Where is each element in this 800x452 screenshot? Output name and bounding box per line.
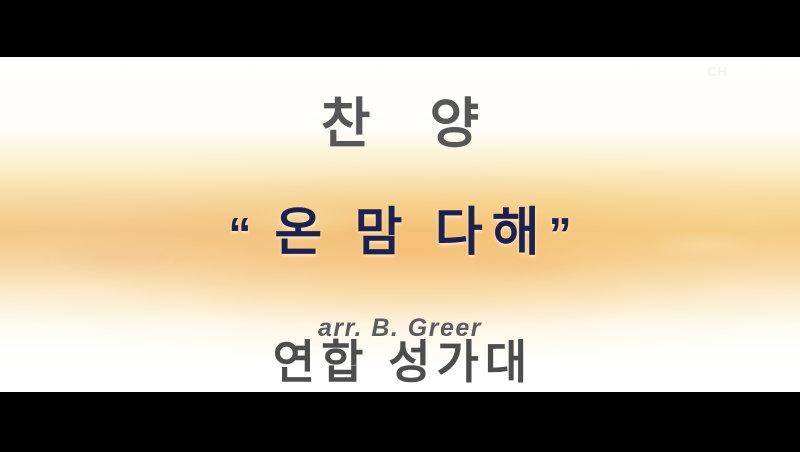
slide-text-stack: 찬 양 “온 맘 다해” arr. B. Greer 연합 성가대 <box>0 57 800 392</box>
slide-stage: CH 찬 양 “온 맘 다해” arr. B. Greer 연합 성가대 <box>0 57 800 392</box>
song-title-text: 온 맘 다해 <box>274 204 548 262</box>
letterbox-bar-bottom <box>0 392 800 452</box>
close-quote-mark: ” <box>549 208 581 260</box>
open-quote-mark: “ <box>228 208 260 260</box>
letterbox-bar-top <box>0 0 800 57</box>
category-heading: 찬 양 <box>0 79 800 158</box>
video-title-card: CH 찬 양 “온 맘 다해” arr. B. Greer 연합 성가대 <box>0 0 800 452</box>
performer-name: 연합 성가대 <box>0 326 800 392</box>
song-title-line: “온 맘 다해” <box>0 190 800 265</box>
